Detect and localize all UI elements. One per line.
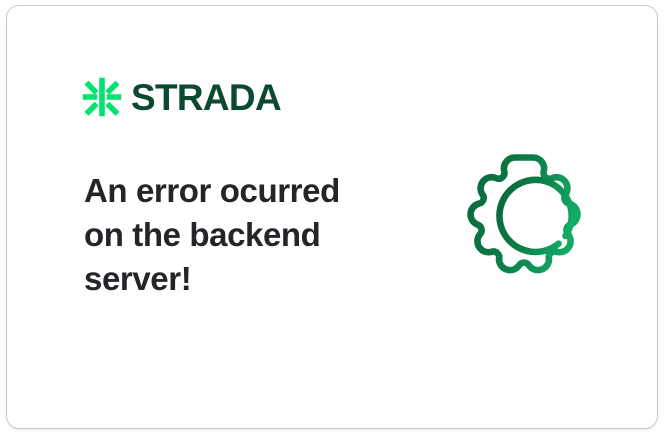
gear-icon — [451, 144, 615, 308]
strada-logo: STRADA — [82, 76, 281, 118]
screenshot-viewport: STRADA An error ocurred on the backend s… — [0, 0, 666, 436]
strada-wordmark: STRADA — [131, 79, 281, 116]
gear-illustration — [451, 144, 615, 308]
error-headline: An error ocurred on the backend server! — [84, 169, 384, 301]
error-card: STRADA An error ocurred on the backend s… — [6, 5, 658, 429]
strada-asterisk-mark-icon — [82, 77, 122, 117]
